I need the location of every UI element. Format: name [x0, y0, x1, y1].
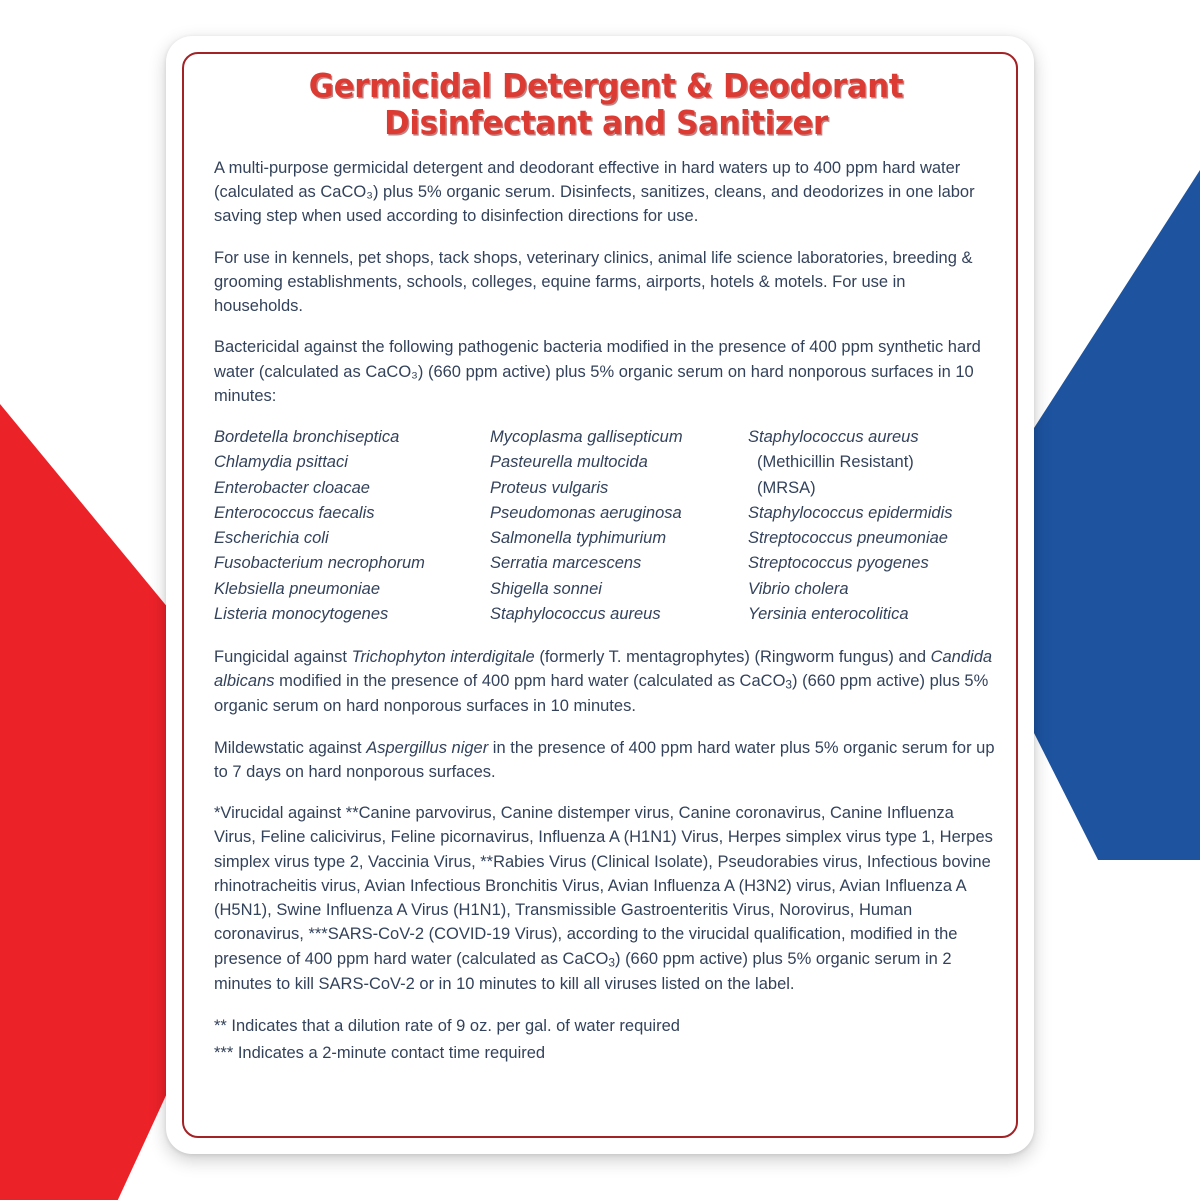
paragraph-intro: A multi-purpose germicidal detergent and… — [214, 156, 998, 229]
decorative-red-polygon — [0, 330, 190, 1200]
bacteria-list-item: Bordetella bronchiseptica — [214, 425, 490, 450]
bacteria-list-item: Salmonella typhimurium — [490, 526, 748, 551]
bacteria-column-2: Mycoplasma gallisepticumPasteurella mult… — [490, 425, 748, 627]
fungicidal-part-2: (formerly T. mentagrophytes) (Ringworm f… — [535, 648, 931, 666]
bacteria-list-item: Listeria monocytogenes — [214, 602, 490, 627]
bacteria-list-item: Shigella sonnei — [490, 577, 748, 602]
paragraph-fungicidal: Fungicidal against Trichophyton interdig… — [214, 645, 998, 719]
virucidal-subscript: 3 — [608, 955, 615, 969]
bacteria-list-item: Staphylococcus epidermidis — [748, 501, 998, 526]
mildewstatic-organism: Aspergillus niger — [366, 739, 488, 757]
footnotes-block: ** Indicates that a dilution rate of 9 o… — [214, 1013, 998, 1066]
bacteria-list-item: Enterococcus faecalis — [214, 501, 490, 526]
bacteria-column-1: Bordetella bronchisepticaChlamydia psitt… — [214, 425, 490, 627]
bacteria-list-item: (Methicillin Resistant) — [748, 450, 998, 475]
bacteria-list-item: Staphylococcus aureus — [490, 602, 748, 627]
fungicidal-part-3: modified in the presence of 400 ppm hard… — [275, 672, 786, 690]
fungicidal-organism-1: Trichophyton interdigitale — [352, 648, 535, 666]
fungicidal-part-1: Fungicidal against — [214, 648, 352, 666]
paragraph-bactericidal-text: Bactericidal against the following patho… — [214, 338, 981, 405]
bacteria-list: Bordetella bronchisepticaChlamydia psitt… — [214, 425, 998, 627]
footnote-dilution: ** Indicates that a dilution rate of 9 o… — [214, 1013, 998, 1040]
virucidal-part-1: *Virucidal against **Canine parvovirus, … — [214, 804, 993, 968]
bacteria-list-item: Streptococcus pneumoniae — [748, 526, 998, 551]
footnote-contact-time: *** Indicates a 2-minute contact time re… — [214, 1040, 998, 1067]
bacteria-list-item: Staphylococcus aureus — [748, 425, 998, 450]
bacteria-list-item: Fusobacterium necrophorum — [214, 551, 490, 576]
page-title: Germicidal Detergent & Deodorant Disinfe… — [241, 68, 970, 142]
paragraph-intro-text: A multi-purpose germicidal detergent and… — [214, 159, 975, 226]
bacteria-list-item: (MRSA) — [748, 476, 998, 501]
title-line-1: Germicidal Detergent & Deodorant — [245, 68, 967, 105]
page-root: Germicidal Detergent & Deodorant Disinfe… — [0, 0, 1200, 1200]
paragraph-use-sites: For use in kennels, pet shops, tack shop… — [214, 246, 998, 319]
product-label-card: Germicidal Detergent & Deodorant Disinfe… — [166, 36, 1034, 1154]
title-line-2: Disinfectant and Sanitizer — [245, 105, 967, 142]
bacteria-list-item: Streptococcus pyogenes — [748, 551, 998, 576]
bacteria-column-3: Staphylococcus aureus(Methicillin Resist… — [748, 425, 998, 627]
bacteria-list-item: Pasteurella multocida — [490, 450, 748, 475]
bacteria-list-item: Vibrio cholera — [748, 577, 998, 602]
bacteria-list-item: Serratia marcescens — [490, 551, 748, 576]
paragraph-bactericidal: Bactericidal against the following patho… — [214, 335, 998, 408]
decorative-blue-polygon — [1018, 170, 1200, 860]
mildewstatic-part-1: Mildewstatic against — [214, 739, 366, 757]
bacteria-list-item: Pseudomonas aeruginosa — [490, 501, 748, 526]
paragraph-use-sites-text: For use in kennels, pet shops, tack shop… — [214, 249, 972, 316]
paragraph-mildewstatic: Mildewstatic against Aspergillus niger i… — [214, 736, 998, 785]
bacteria-list-item: Chlamydia psittaci — [214, 450, 490, 475]
bacteria-list-item: Yersinia enterocolitica — [748, 602, 998, 627]
bacteria-list-item: Proteus vulgaris — [490, 476, 748, 501]
bacteria-list-item: Escherichia coli — [214, 526, 490, 551]
label-content: Germicidal Detergent & Deodorant Disinfe… — [214, 68, 998, 1066]
bacteria-list-item: Enterobacter cloacae — [214, 476, 490, 501]
paragraph-virucidal: *Virucidal against **Canine parvovirus, … — [214, 801, 998, 996]
bacteria-list-item: Mycoplasma gallisepticum — [490, 425, 748, 450]
bacteria-list-item: Klebsiella pneumoniae — [214, 577, 490, 602]
